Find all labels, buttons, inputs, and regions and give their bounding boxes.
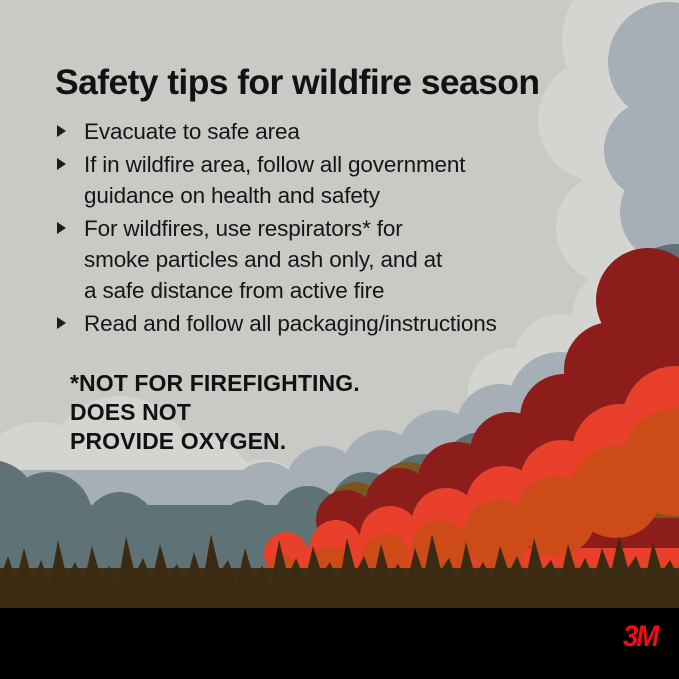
list-item-label: Read and follow all packaging/instructio… (84, 308, 635, 339)
list-item: Read and follow all packaging/instructio… (55, 308, 635, 339)
page-title: Safety tips for wildfire season (55, 64, 655, 101)
safety-tips-list: Evacuate to safe area If in wildfire are… (55, 116, 635, 341)
brand-logo-3m: 3M (623, 622, 657, 652)
triangle-bullet-icon (57, 317, 66, 329)
triangle-bullet-icon (57, 158, 66, 170)
list-item-label: If in wildfire area, follow all governme… (84, 149, 635, 211)
list-item-label: Evacuate to safe area (84, 116, 635, 147)
list-item: Evacuate to safe area (55, 116, 635, 147)
triangle-bullet-icon (57, 222, 66, 234)
list-item-label: For wildfires, use respirators* for smok… (84, 213, 635, 306)
poster-content: Safety tips for wildfire season Evacuate… (0, 0, 679, 679)
list-item: If in wildfire area, follow all governme… (55, 149, 635, 211)
triangle-bullet-icon (57, 125, 66, 137)
wildfire-safety-poster: Safety tips for wildfire season Evacuate… (0, 0, 679, 679)
disclaimer-text: *NOT FOR FIREFIGHTING. DOES NOT PROVIDE … (70, 369, 590, 456)
list-item: For wildfires, use respirators* for smok… (55, 213, 635, 306)
